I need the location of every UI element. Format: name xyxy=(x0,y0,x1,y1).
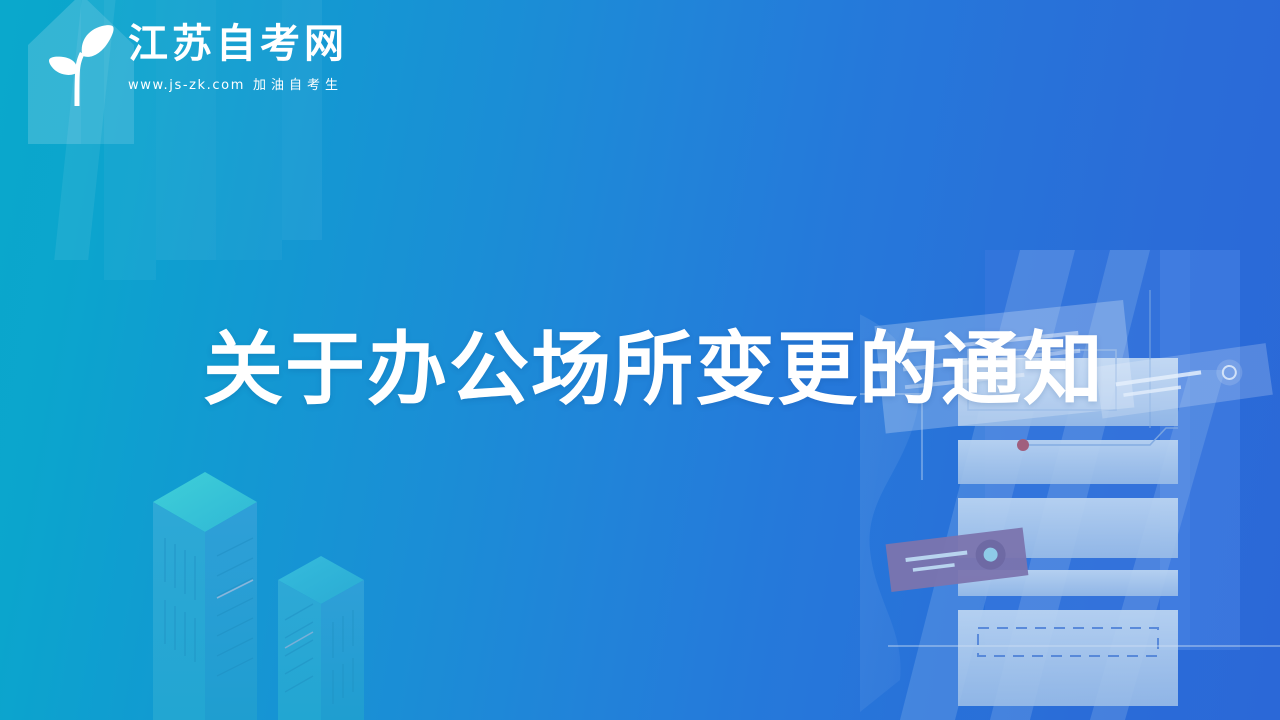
site-logo-title: 江苏自考网 xyxy=(128,22,348,67)
site-logo[interactable]: 江苏自考网 www.js-zk.com加油自考生 xyxy=(30,16,348,112)
article-banner: 江苏自考网 www.js-zk.com加油自考生 xyxy=(0,0,1280,720)
sprout-logo-icon xyxy=(30,20,122,112)
building-short xyxy=(278,556,364,720)
site-logo-subtitle: www.js-zk.com加油自考生 xyxy=(128,74,348,93)
site-slogan: 加油自考生 xyxy=(253,78,343,93)
site-url: www.js-zk.com xyxy=(128,78,245,93)
page-title: 关于办公场所变更的通知 xyxy=(203,326,1105,412)
isometric-buildings xyxy=(95,460,415,720)
building-tall xyxy=(153,472,257,720)
